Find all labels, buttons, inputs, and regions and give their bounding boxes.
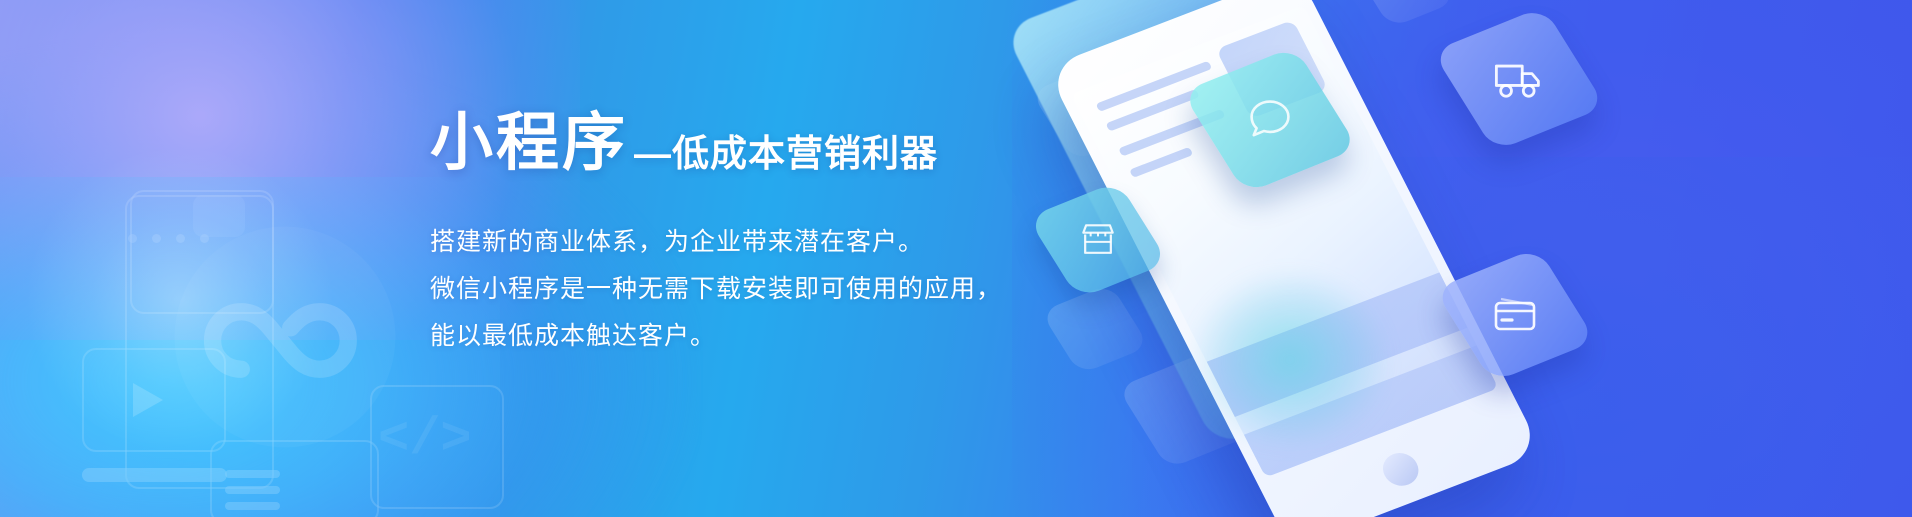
decor-line [82,468,227,482]
decor-dot [128,234,137,243]
description-line-2: 微信小程序是一种无需下载安装即可使用的应用， [430,266,1050,313]
phone-illustration [1040,0,1660,517]
decor-line [225,486,280,494]
decor-dot [152,234,161,243]
description-line-1: 搭建新的商业体系，为企业带来潜在客户。 [430,219,1050,266]
screen-line [1129,147,1193,178]
page-title: 小程序 —低成本营销利器 [430,112,1050,175]
decor-line [225,470,280,478]
delivery-truck-icon-tile [1432,7,1606,152]
decor-ghost-tile [1354,0,1457,28]
banner-copy: 小程序 —低成本营销利器 搭建新的商业体系，为企业带来潜在客户。 微信小程序是一… [430,112,1050,360]
headline-sub: —低成本营销利器 [634,135,938,175]
play-icon [133,383,163,417]
headline-main: 小程序 [430,112,628,175]
decor-ghost-tile [1041,284,1150,375]
phone-home-button [1377,448,1424,491]
promo-banner: </> [0,0,1912,517]
decor-line [225,502,280,510]
wechat-mini-program-logo [170,222,400,452]
teal-light-glow [1190,270,1390,450]
description-line-3: 能以最低成本触达客户。 [430,313,1050,360]
banner-description: 搭建新的商业体系，为企业带来潜在客户。 微信小程序是一种无需下载安装即可使用的应… [430,219,1050,360]
